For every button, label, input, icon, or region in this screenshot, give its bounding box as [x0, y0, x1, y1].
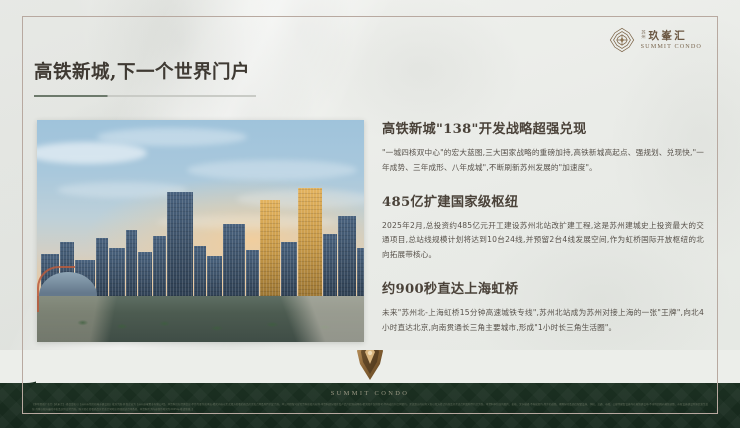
block-title: 485亿扩建国家级枢纽	[382, 191, 704, 210]
legal-disclaimer: 【本项目推广名为【玖峯汇】,备案案名以【苏州市住房和城乡建设局】批准为准,开发企…	[32, 402, 708, 413]
brand-sub-label: 苏州	[641, 30, 646, 41]
cloud-shape	[187, 160, 357, 180]
photo-road	[244, 296, 364, 342]
brand-text: 苏州 玖峯汇 SUMMIT CONDO	[641, 30, 702, 50]
cloud-shape	[97, 128, 247, 146]
brand-name-cn: 玖峯汇	[648, 31, 687, 42]
brand-name-en: SUMMIT CONDO	[641, 44, 702, 50]
title-underline	[34, 95, 256, 97]
block-title: 高铁新城"138"开发战略超强兑现	[382, 118, 704, 137]
city-skyline-photo	[37, 120, 364, 342]
diamond-ornament-icon	[353, 350, 387, 380]
diamond-emblem-icon	[609, 27, 635, 53]
content-block-1: 高铁新城"138"开发战略超强兑现 "一城四核双中心"的宏大蓝图,三大国家战略的…	[382, 118, 704, 176]
page-title: 高铁新城,下一个世界门户	[34, 58, 256, 84]
block-body: "一城四核双中心"的宏大蓝图,三大国家战略的重磅加持,高铁新城高起点、强规划、兑…	[382, 146, 704, 176]
footer-top-sheet	[36, 350, 740, 383]
photo-skyline	[37, 192, 364, 342]
block-body: 2025年2月,总投资约485亿元开工建设苏州北站改扩建工程,这是苏州建城史上投…	[382, 219, 704, 263]
photo-foreground-structure	[37, 266, 75, 312]
content-column: 高铁新城"138"开发战略超强兑现 "一城四核双中心"的宏大蓝图,三大国家战略的…	[382, 118, 704, 336]
footer-brand-name: SUMMIT CONDO	[0, 390, 740, 397]
content-block-2: 485亿扩建国家级枢纽 2025年2月,总投资约485亿元开工建设苏州北站改扩建…	[382, 191, 704, 263]
footer: SUMMIT CONDO 【本项目推广名为【玖峯汇】,备案案名以【苏州市住房和城…	[0, 350, 740, 428]
presentation-slide: 苏州 玖峯汇 SUMMIT CONDO 高铁新城,下一个世界门户	[0, 0, 740, 428]
content-block-3: 约900秒直达上海虹桥 未来"苏州北-上海虹桥15分钟高速城铁专线",苏州北站成…	[382, 278, 704, 336]
block-body: 未来"苏州北-上海虹桥15分钟高速城铁专线",苏州北站成为苏州对接上海的一张"王…	[382, 306, 704, 336]
block-title: 约900秒直达上海虹桥	[382, 278, 704, 297]
headline-group: 高铁新城,下一个世界门户	[34, 58, 256, 97]
brand-logo: 苏州 玖峯汇 SUMMIT CONDO	[609, 27, 702, 53]
